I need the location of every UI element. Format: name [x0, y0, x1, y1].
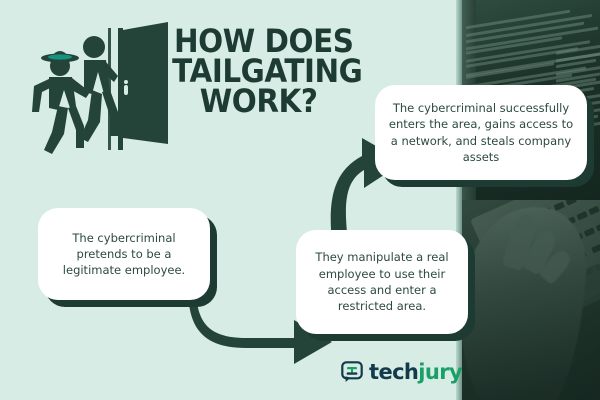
- step-1-callout[interactable]: The cybercriminal pretends to be a legit…: [38, 208, 210, 300]
- step-2-callout[interactable]: They manipulate a real employee to use t…: [296, 230, 468, 334]
- infographic-canvas: HOW DOES TAILGATING WORK? The cybercrimi…: [0, 0, 600, 400]
- step-2-text: They manipulate a real employee to use t…: [308, 249, 456, 314]
- photo-left-edge-strip: [456, 0, 462, 400]
- logo-text-jury: jury: [418, 360, 462, 384]
- speech-bubble-gavel-icon: [341, 361, 363, 383]
- logo-text-tech: tech: [369, 360, 418, 384]
- person-with-hat-icon: [32, 51, 90, 154]
- logo-wordmark: techjury: [369, 360, 462, 384]
- title-line-3: WORK?: [200, 86, 377, 116]
- step-1-text: The cybercriminal pretends to be a legit…: [50, 230, 198, 279]
- step-3-text: The cybercriminal successfully enters th…: [387, 100, 575, 165]
- photo-panel: [456, 0, 600, 400]
- techjury-logo[interactable]: techjury: [341, 360, 462, 384]
- step-3-callout[interactable]: The cybercriminal successfully enters th…: [375, 85, 587, 180]
- photo-green-overlay: [456, 0, 600, 400]
- page-title: HOW DOES TAILGATING WORK?: [174, 26, 376, 116]
